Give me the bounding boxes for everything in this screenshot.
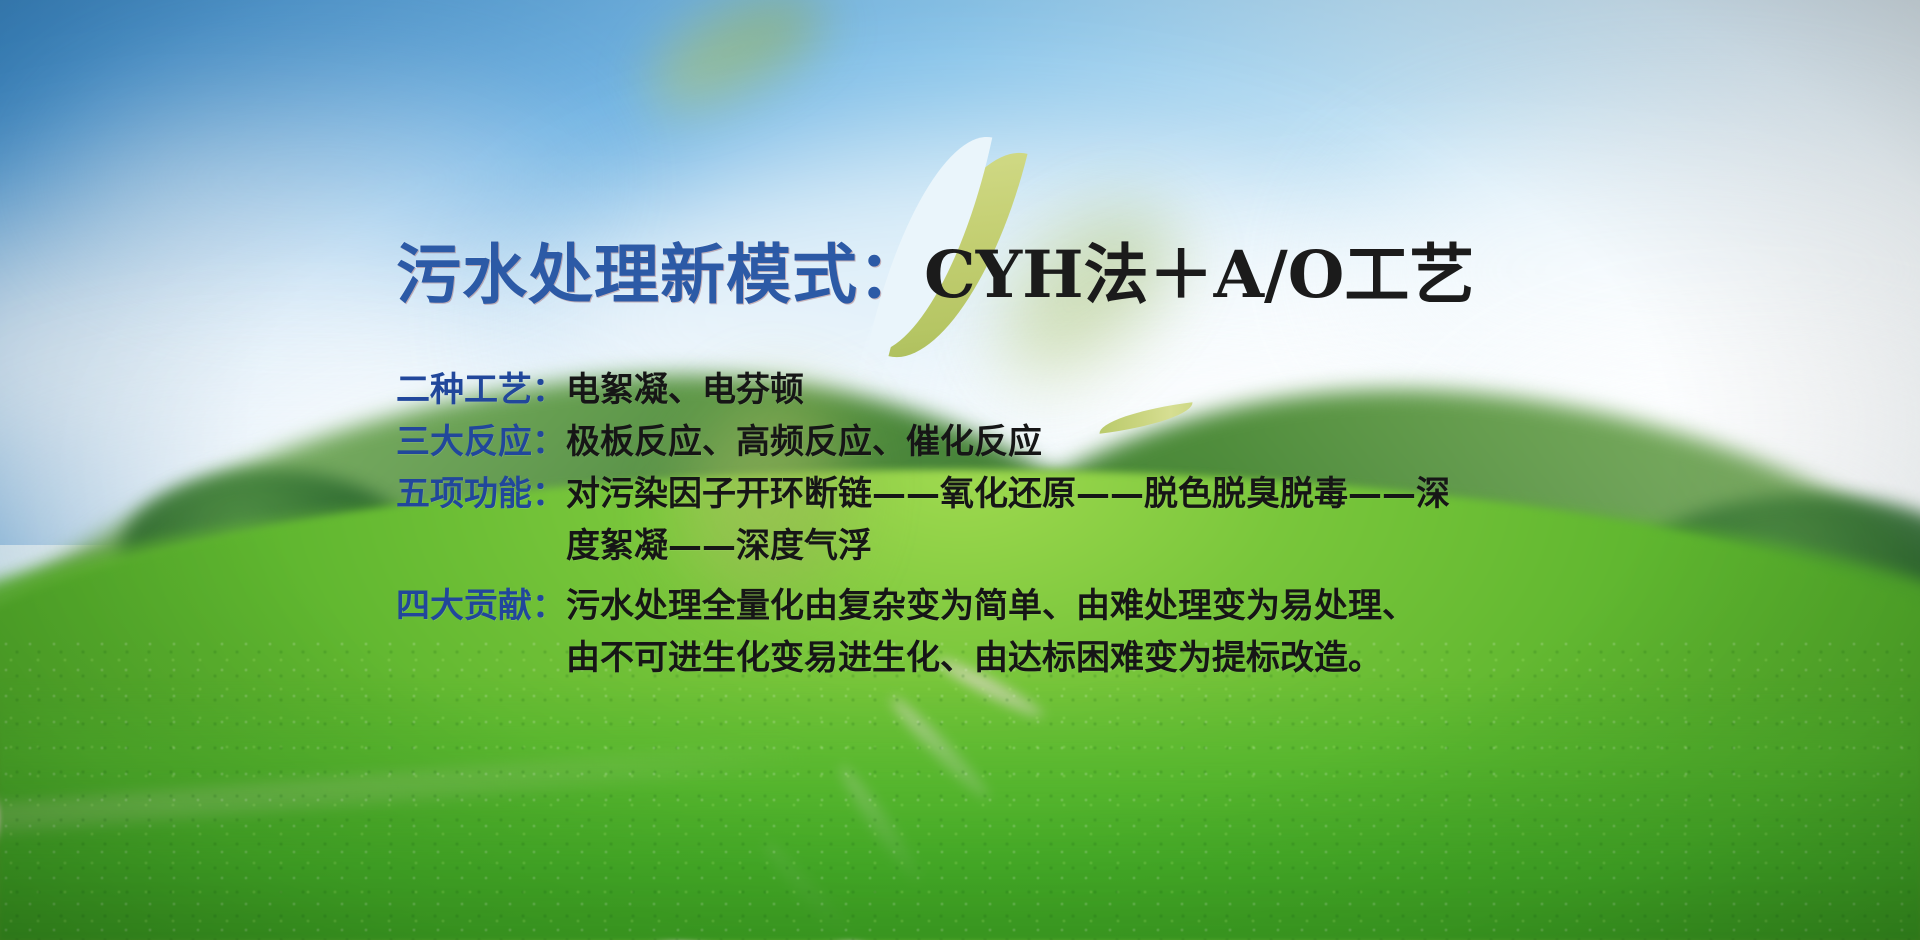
list-item-label: 二种工艺： — [396, 364, 566, 416]
list-item-continuation: 度絮凝——深度气浮 — [396, 520, 1450, 572]
list-item-text: 度絮凝——深度气浮 — [566, 520, 872, 572]
list-item-text: 由不可进生化变易进生化、由达标困难变为提标改造。 — [566, 632, 1382, 684]
slide-content: 污水处理新模式：CYH法＋A/O工艺 二种工艺： 电絮凝、电芬顿 三大反应： 极… — [0, 0, 1920, 940]
title-black-part: CYH法＋A/O工艺 — [924, 237, 1474, 313]
list-item-text: 污水处理全量化由复杂变为简单、由难处理变为易处理、 — [566, 580, 1416, 632]
list-item-label: 五项功能： — [396, 468, 566, 520]
list-item: 二种工艺： 电絮凝、电芬顿 — [396, 364, 1450, 416]
list-item-continuation: 由不可进生化变易进生化、由达标困难变为提标改造。 — [396, 632, 1450, 684]
list-item-text: 电絮凝、电芬顿 — [566, 364, 804, 416]
list-item: 五项功能： 对污染因子开环断链——氧化还原——脱色脱臭脱毒——深 — [396, 468, 1450, 520]
title-blue-part: 污水处理新模式： — [396, 237, 924, 313]
page-title: 污水处理新模式：CYH法＋A/O工艺 — [396, 243, 1474, 308]
bullet-list: 二种工艺： 电絮凝、电芬顿 三大反应： 极板反应、高频反应、催化反应 五项功能：… — [396, 364, 1450, 684]
list-item-text: 对污染因子开环断链——氧化还原——脱色脱臭脱毒——深 — [566, 468, 1450, 520]
list-item: 四大贡献： 污水处理全量化由复杂变为简单、由难处理变为易处理、 — [396, 580, 1450, 632]
list-item-label: 三大反应： — [396, 416, 566, 468]
slide-canvas: 污水处理新模式：CYH法＋A/O工艺 二种工艺： 电絮凝、电芬顿 三大反应： 极… — [0, 0, 1920, 940]
list-item-label: 四大贡献： — [396, 580, 566, 632]
list-item-text: 极板反应、高频反应、催化反应 — [566, 416, 1042, 468]
list-item: 三大反应： 极板反应、高频反应、催化反应 — [396, 416, 1450, 468]
